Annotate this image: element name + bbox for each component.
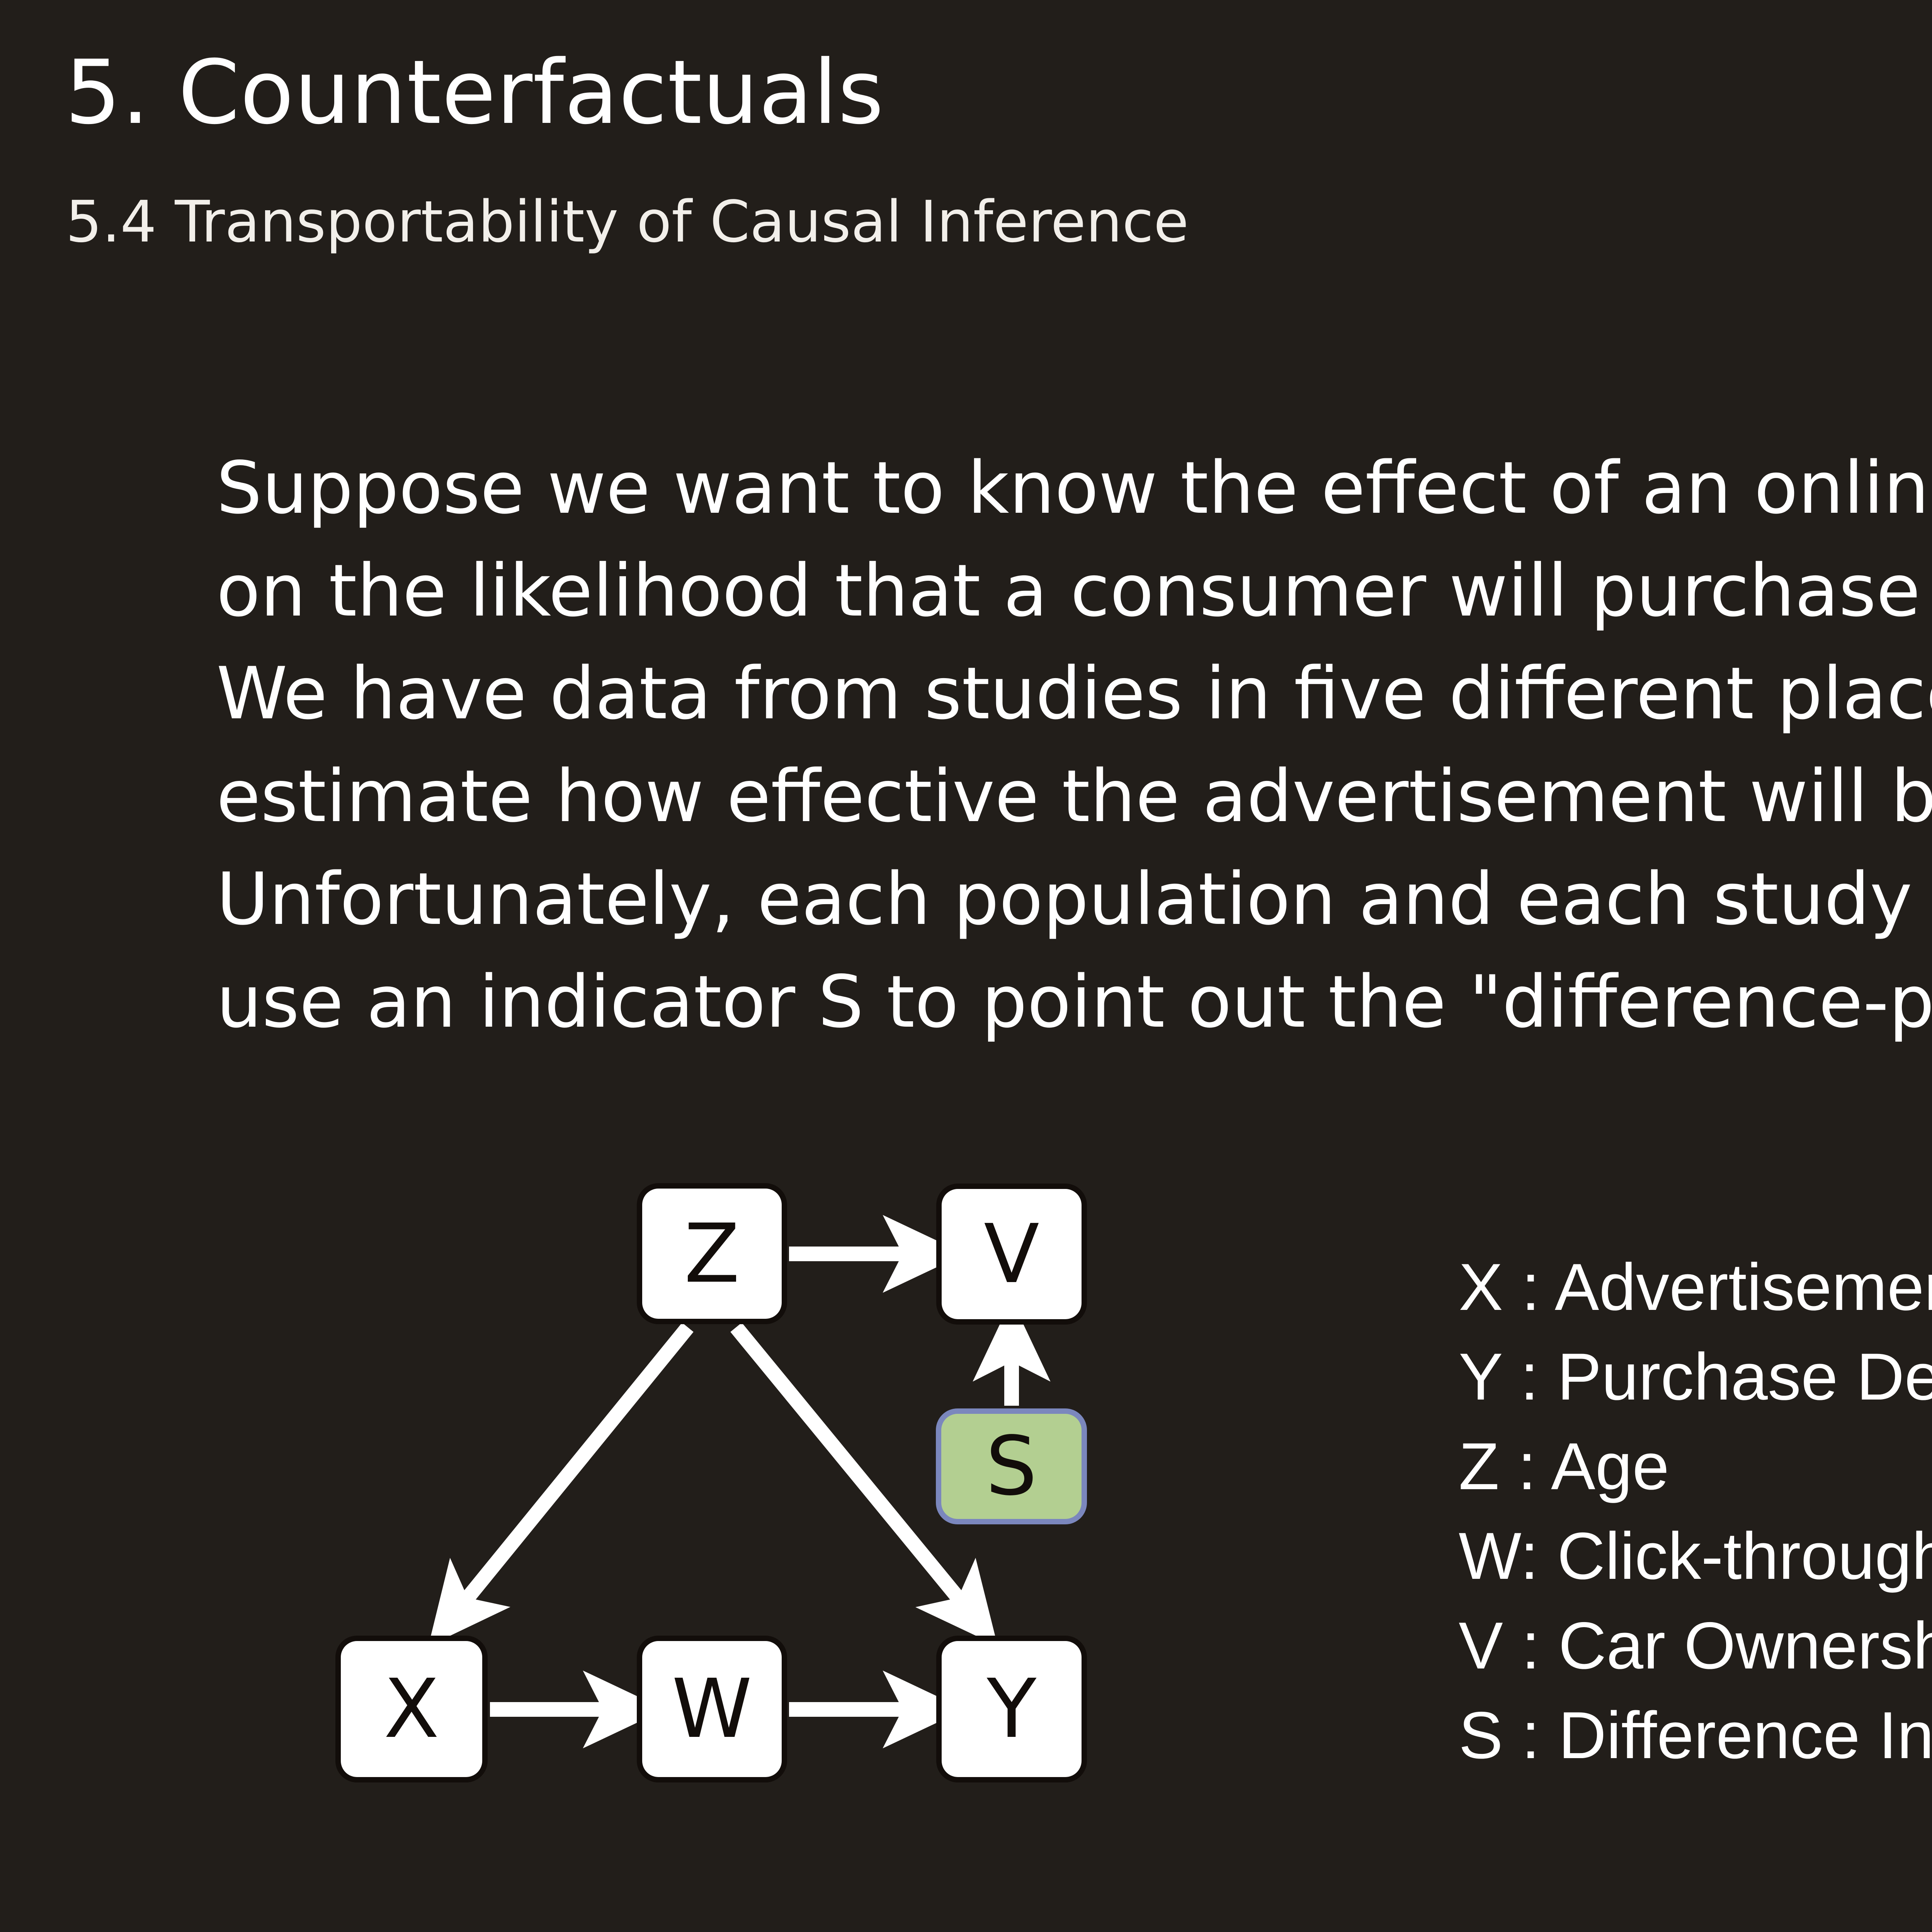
- dag-node-x: X: [335, 1636, 488, 1782]
- page-title: 5. Counterfactuals: [65, 48, 884, 136]
- legend-item-s: S : Difference Indicator: [1459, 1690, 1932, 1780]
- dag-node-s: S: [936, 1408, 1087, 1524]
- slide-canvas: 5. Counterfactuals 5.4 Transportability …: [0, 0, 1932, 1932]
- edge-z-y: [736, 1327, 966, 1607]
- paragraph-line: use an indicator S to point out the "dif…: [216, 951, 1932, 1053]
- edge-z-x: [460, 1327, 688, 1607]
- legend-item-z: Z : Age: [1459, 1422, 1932, 1511]
- paragraph-line: estimate how effective the advertisement…: [216, 745, 1932, 848]
- dag-node-z: Z: [637, 1183, 787, 1324]
- dag-node-y: Y: [936, 1636, 1087, 1782]
- paragraph-line: We have data from studies in five differ…: [216, 642, 1932, 745]
- legend-item-w: W: Click-through Rate: [1459, 1511, 1932, 1601]
- legend-item-y: Y : Purchase Decision: [1459, 1332, 1932, 1422]
- variable-legend: X : Advertisement Y : Purchase Decision …: [1459, 1242, 1932, 1780]
- legend-item-v: V : Car Ownership: [1459, 1601, 1932, 1690]
- paragraph-line: on the likelihood that a consumer will p…: [216, 539, 1932, 642]
- paragraph-line: Suppose we want to know the effect of an…: [216, 437, 1932, 539]
- dag-node-w: W: [637, 1636, 787, 1782]
- legend-item-x: X : Advertisement: [1459, 1242, 1932, 1332]
- dag-node-v: V: [936, 1184, 1087, 1325]
- page-subtitle: 5.4 Transportability of Causal Inference: [66, 193, 1189, 250]
- paragraph-line: Unfortunately, each population and each …: [216, 848, 1932, 951]
- body-paragraph: Suppose we want to know the effect of an…: [216, 437, 1932, 1053]
